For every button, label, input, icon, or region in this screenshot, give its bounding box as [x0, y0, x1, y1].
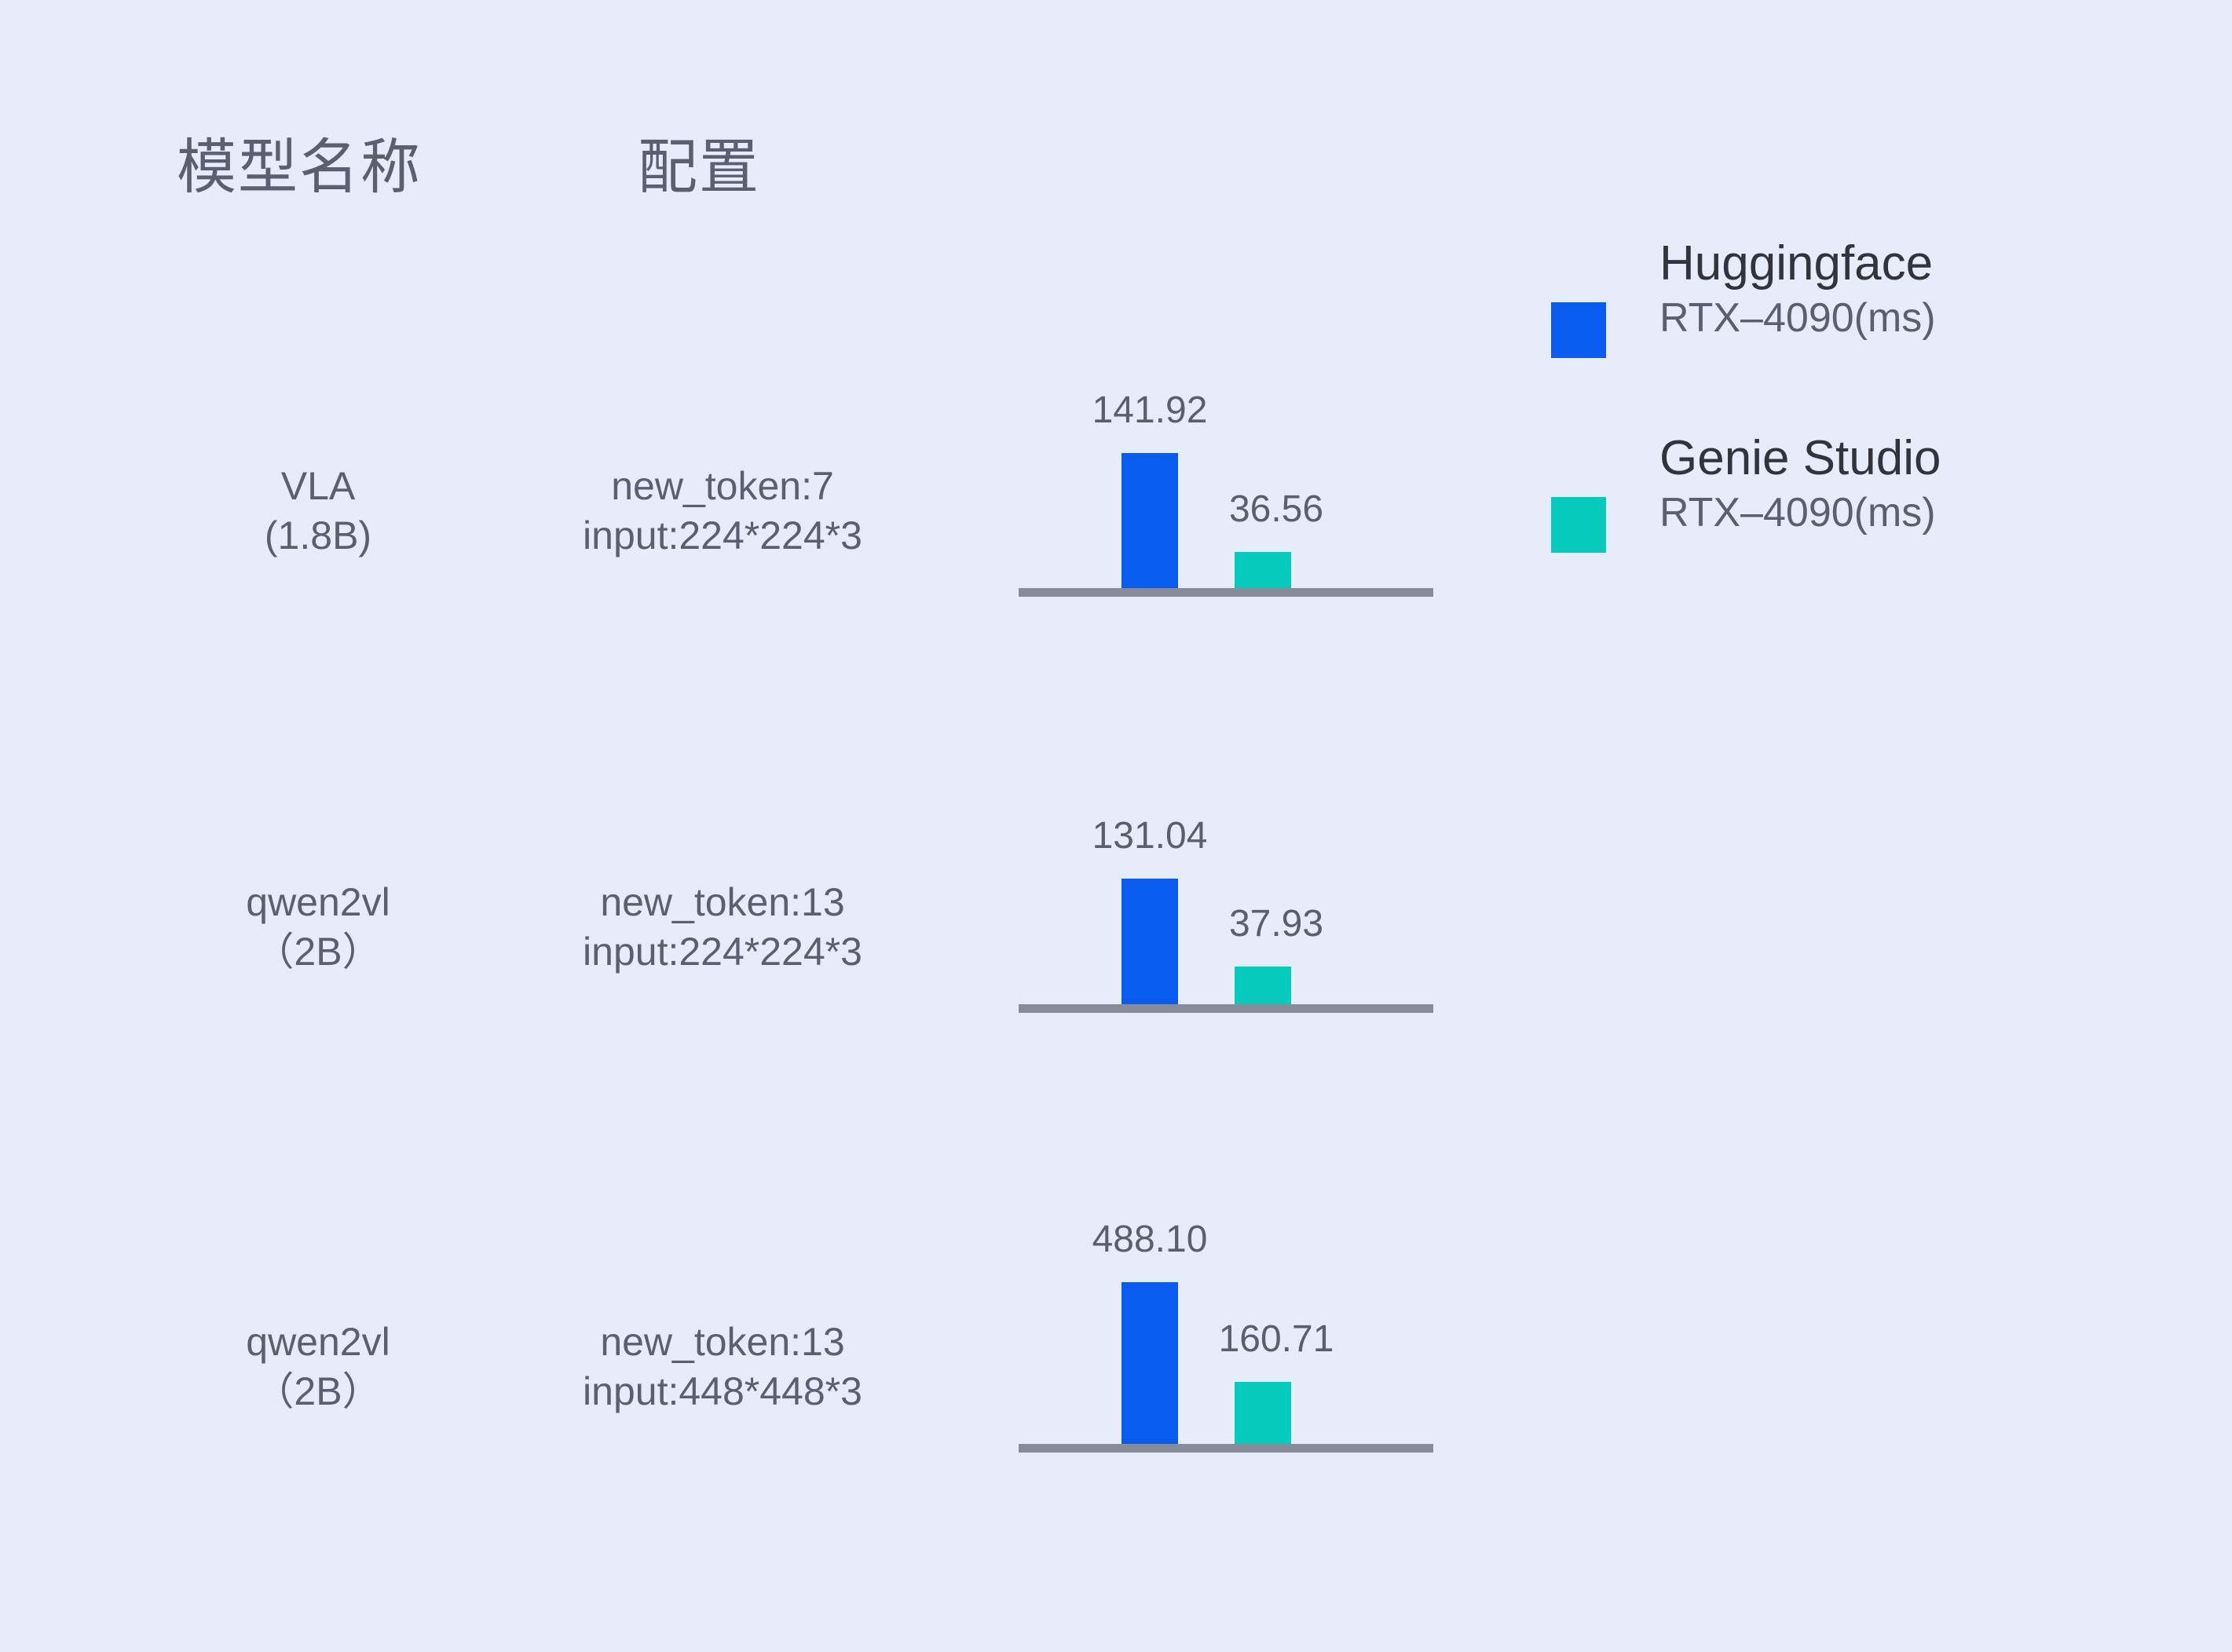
row-config: new_token:7 input:224*224*3: [503, 462, 942, 561]
bar-genie-studio[interactable]: [1235, 552, 1291, 588]
bar-value-label-huggingface: 131.04: [1048, 817, 1252, 855]
bar-huggingface[interactable]: [1121, 453, 1178, 588]
row-model-name-line2: (1.8B): [141, 511, 495, 561]
bar-huggingface[interactable]: [1121, 1282, 1178, 1449]
legend-subtitle-genie-studio: RTX–4090(ms): [1659, 487, 2052, 539]
bar-value-label-genie-studio: 160.71: [1174, 1321, 1378, 1358]
bar-genie-studio[interactable]: [1235, 967, 1291, 1004]
row-config: new_token:13 input:448*448*3: [503, 1318, 942, 1416]
bar-value-label-huggingface: 488.10: [1048, 1221, 1252, 1259]
legend-title-huggingface: Huggingface: [1659, 236, 2052, 292]
column-header-config: 配置: [638, 138, 760, 198]
column-header-model-name: 模型名称: [177, 138, 422, 198]
chart-canvas: 模型名称 配置 VLA (1.8B) new_token:7 input:224…: [0, 0, 2232, 1652]
row-bar-group: 131.04 37.93: [1019, 707, 1433, 1036]
chart-row: qwen2vl （2B） new_token:13 input:224*224*…: [0, 707, 2232, 1036]
row-config-line1: new_token:13: [600, 880, 844, 924]
row-config-line2: input:224*224*3: [503, 927, 942, 977]
bar-genie-studio[interactable]: [1235, 1382, 1291, 1444]
row-config-line1: new_token:13: [600, 1320, 844, 1364]
legend-text-genie-studio: Genie Studio RTX–4090(ms): [1659, 430, 2052, 539]
legend-text-huggingface: Huggingface RTX–4090(ms): [1659, 236, 2052, 344]
row-bar-group: 488.10 160.71: [1019, 1123, 1433, 1476]
bar-value-label-genie-studio: 37.93: [1174, 905, 1378, 943]
bar-value-label-genie-studio: 36.56: [1174, 491, 1378, 528]
legend-title-genie-studio: Genie Studio: [1659, 430, 2052, 487]
row-config-line1: new_token:7: [611, 464, 834, 508]
bar-value-label-huggingface: 141.92: [1048, 392, 1252, 429]
row-model-name-line1: qwen2vl: [246, 880, 390, 924]
row-config-line2: input:224*224*3: [503, 511, 942, 561]
row-model-name: VLA (1.8B): [141, 462, 495, 561]
bar-huggingface[interactable]: [1121, 879, 1178, 1004]
chart-row: qwen2vl （2B） new_token:13 input:448*448*…: [0, 1123, 2232, 1476]
row-model-name-line2: （2B）: [141, 1367, 495, 1416]
row-model-name-line1: VLA: [281, 464, 356, 508]
chart-baseline: [1019, 1444, 1433, 1453]
row-config: new_token:13 input:224*224*3: [503, 878, 942, 977]
row-model-name-line1: qwen2vl: [246, 1320, 390, 1364]
legend-subtitle-huggingface: RTX–4090(ms): [1659, 292, 2052, 345]
row-model-name-line2: （2B）: [141, 927, 495, 977]
row-model-name: qwen2vl （2B）: [141, 878, 495, 977]
chart-baseline: [1019, 1004, 1433, 1013]
row-config-line2: input:448*448*3: [503, 1367, 942, 1416]
legend-swatch-genie-studio-icon: [1551, 497, 1606, 553]
row-bar-group: 141.92 36.56: [1019, 291, 1433, 620]
row-model-name: qwen2vl （2B）: [141, 1318, 495, 1416]
legend-swatch-huggingface-icon: [1551, 302, 1606, 358]
chart-baseline: [1019, 588, 1433, 597]
